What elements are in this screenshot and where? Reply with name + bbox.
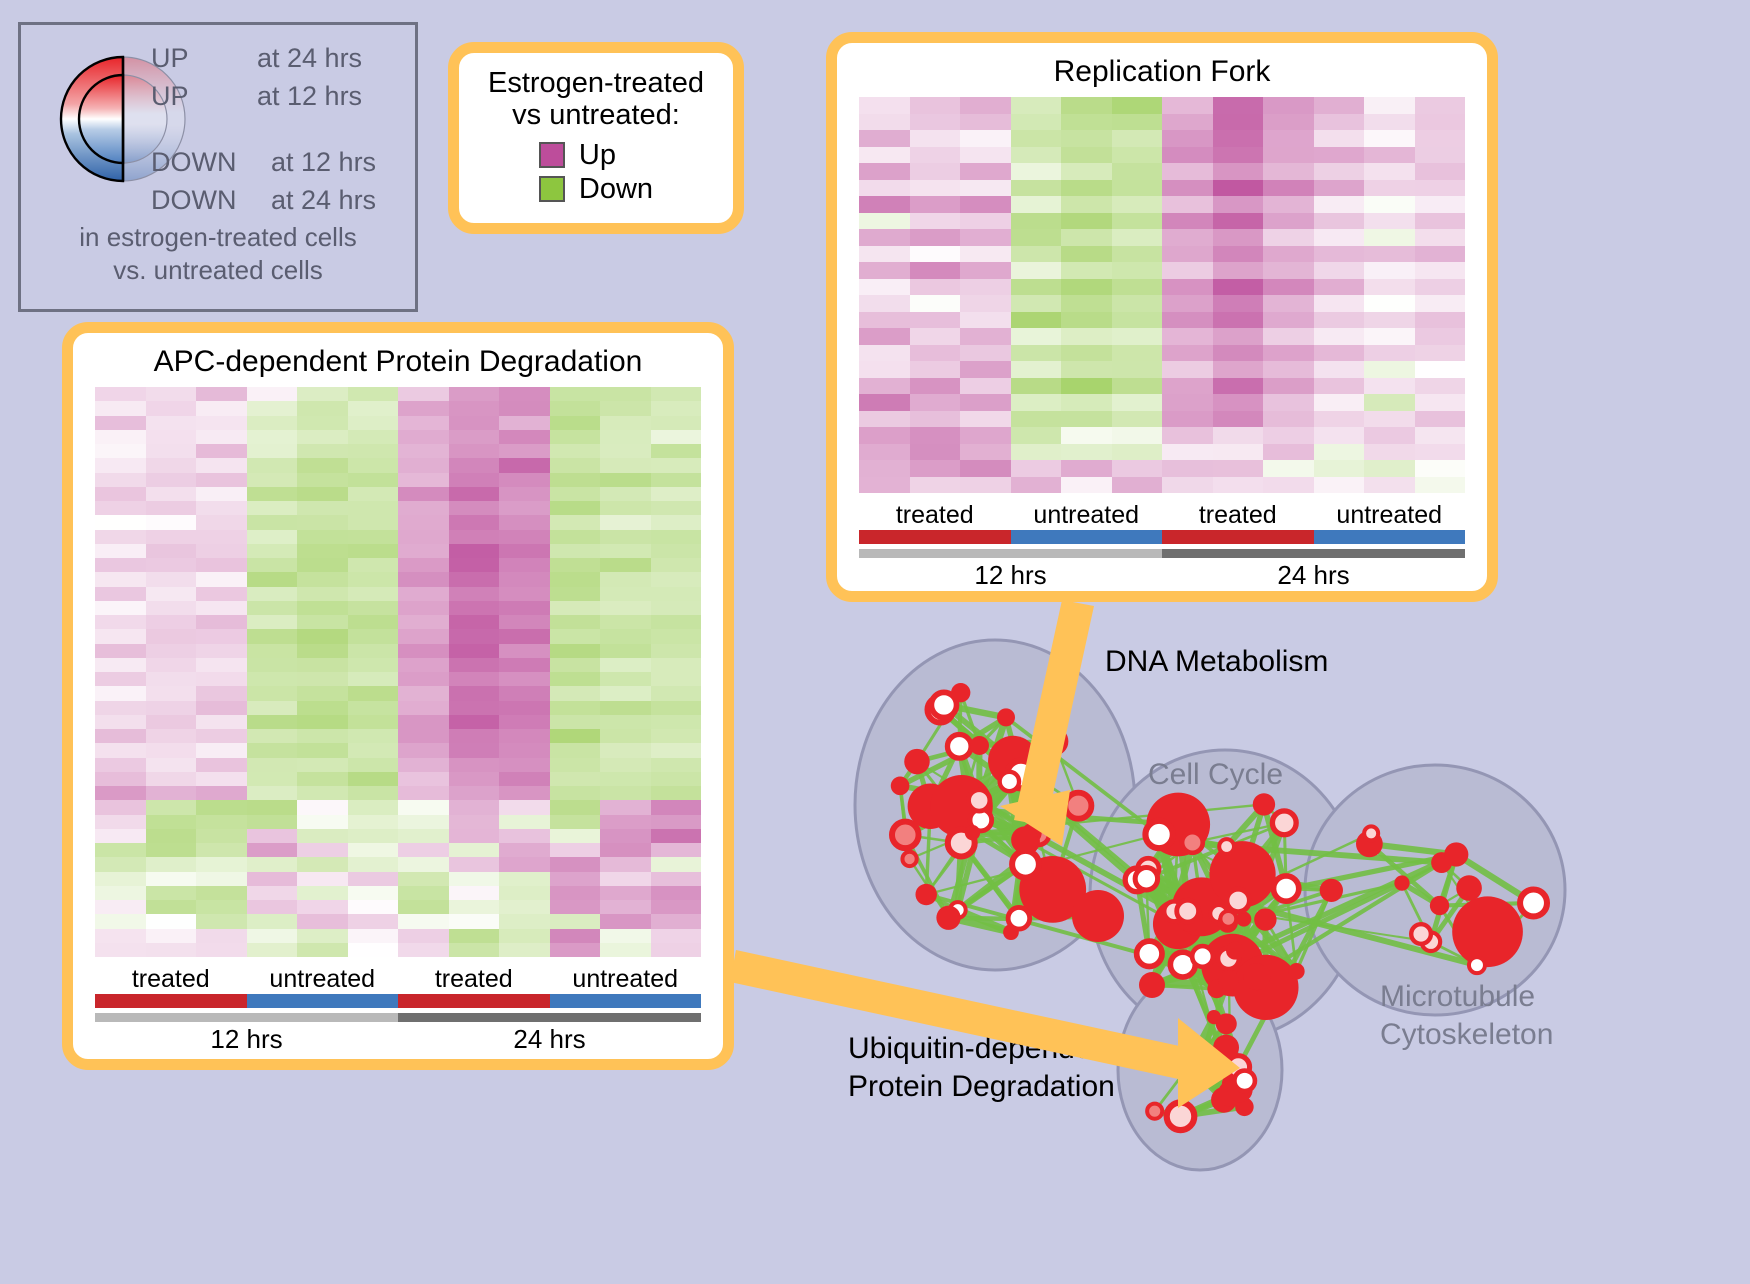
arrow-head-apc [1178, 1018, 1240, 1108]
arrow-apc [730, 950, 1198, 1082]
arrow-replication-fork [1014, 600, 1094, 826]
callout-arrows [0, 0, 1750, 1279]
arrow-head-replication-fork [1000, 790, 1070, 846]
